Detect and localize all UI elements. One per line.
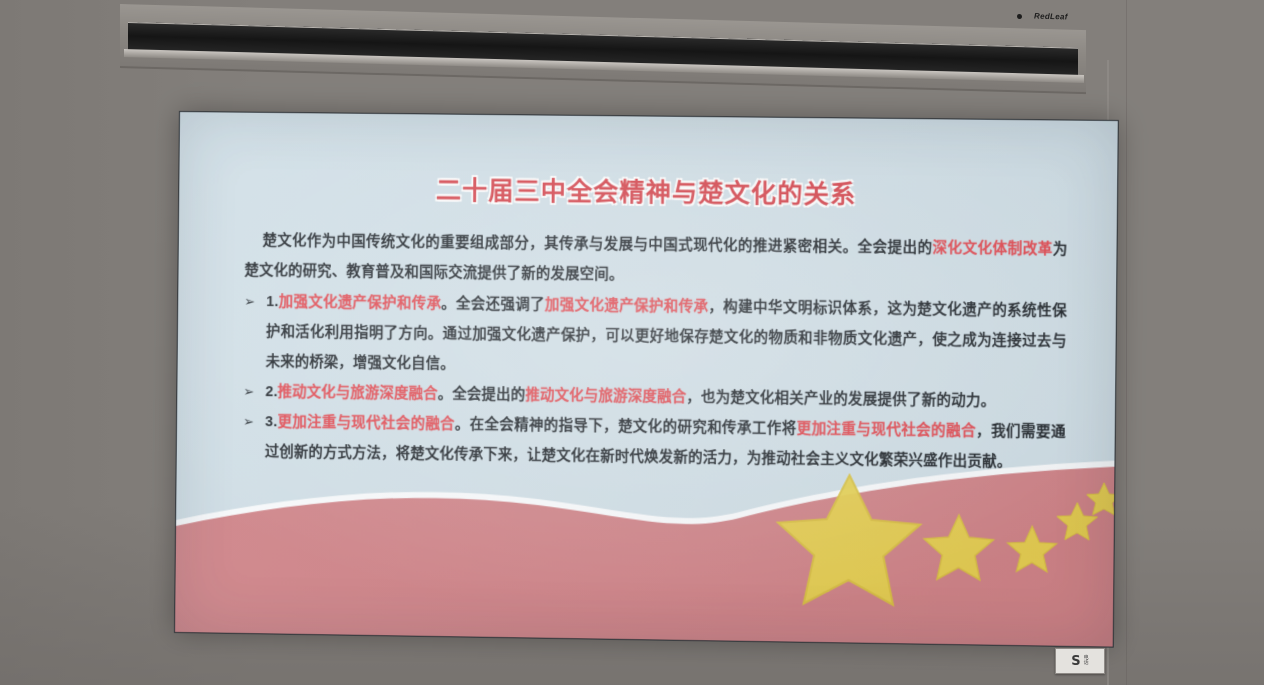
- bullet-2-body-highlight: 推动文化与旅游深度融合: [525, 387, 686, 405]
- bullet-3-number: 3.: [265, 414, 278, 430]
- bullet-3-body-part1: 。在全会精神的指导下，楚文化的研究和传承工作将: [455, 417, 797, 438]
- bullet-2-body-part1: 。全会提出的: [438, 386, 526, 403]
- presentation-slide: 二十届三中全会精神与楚文化的关系 楚文化作为中国传统文化的重要组成部分，其传承与…: [175, 112, 1118, 647]
- bullet-marker-icon: ➢: [243, 377, 254, 407]
- bullet-3-heading: 更加注重与现代社会的融合: [277, 414, 455, 432]
- projector-screen-housing: RedLeaf: [120, 4, 1086, 66]
- bullet-1-heading: 加强文化遗产保护和传承: [279, 294, 442, 312]
- slide-body: 楚文化作为中国传统文化的重要组成部分，其传承与发展与中国式现代化的推进紧密相关。…: [243, 226, 1068, 478]
- bullet-1-number: 1.: [266, 294, 279, 310]
- bullet-3-body-highlight: 更加注重与现代社会的融合: [797, 421, 977, 439]
- wall-plaque: S 电 话: [1055, 648, 1105, 674]
- bullet-item-1: ➢1.加强文化遗产保护和传承。全会还强调了加强文化遗产保护和传承，构建中华文明标…: [243, 287, 1067, 387]
- slide-content: 二十届三中全会精神与楚文化的关系 楚文化作为中国传统文化的重要组成部分，其传承与…: [175, 112, 1118, 647]
- bullet-2-heading: 推动文化与旅游深度融合: [278, 384, 438, 402]
- brand-dot-icon: [1017, 14, 1022, 19]
- bullet-1-body-part1: 。全会还强调了: [441, 296, 545, 313]
- bullet-marker-icon: ➢: [244, 287, 255, 317]
- plaque-sub-text: 电 话: [1084, 656, 1089, 666]
- plaque-glyph-icon: S: [1071, 655, 1080, 668]
- bullet-marker-icon: ➢: [243, 407, 254, 437]
- bullet-1-body-highlight: 加强文化遗产保护和传承: [545, 297, 709, 315]
- intro-paragraph: 楚文化作为中国传统文化的重要组成部分，其传承与发展与中国式现代化的推进紧密相关。…: [244, 226, 1067, 296]
- intro-part1: 楚文化作为中国传统文化的重要组成部分，其传承与发展与中国式现代化的推进紧密相关。…: [262, 233, 932, 257]
- projected-slide-area: 二十届三中全会精神与楚文化的关系 楚文化作为中国传统文化的重要组成部分，其传承与…: [175, 112, 1118, 647]
- housing-brand-label: RedLeaf: [1034, 12, 1068, 22]
- wall-corner-line: [1126, 0, 1127, 685]
- bullet-2-body-part2: ，也为楚文化相关产业的发展提供了新的动力。: [686, 389, 995, 409]
- bullet-2-number: 2.: [265, 384, 278, 400]
- slide-title: 二十届三中全会精神与楚文化的关系: [179, 168, 1117, 214]
- classroom-scene: RedLeaf 二十届三: [0, 0, 1264, 685]
- bullet-item-3: ➢3.更加注重与现代社会的融合。在全会精神的指导下，楚文化的研究和传承工作将更加…: [243, 407, 1066, 478]
- intro-highlight: 深化文化体制改革: [932, 240, 1052, 257]
